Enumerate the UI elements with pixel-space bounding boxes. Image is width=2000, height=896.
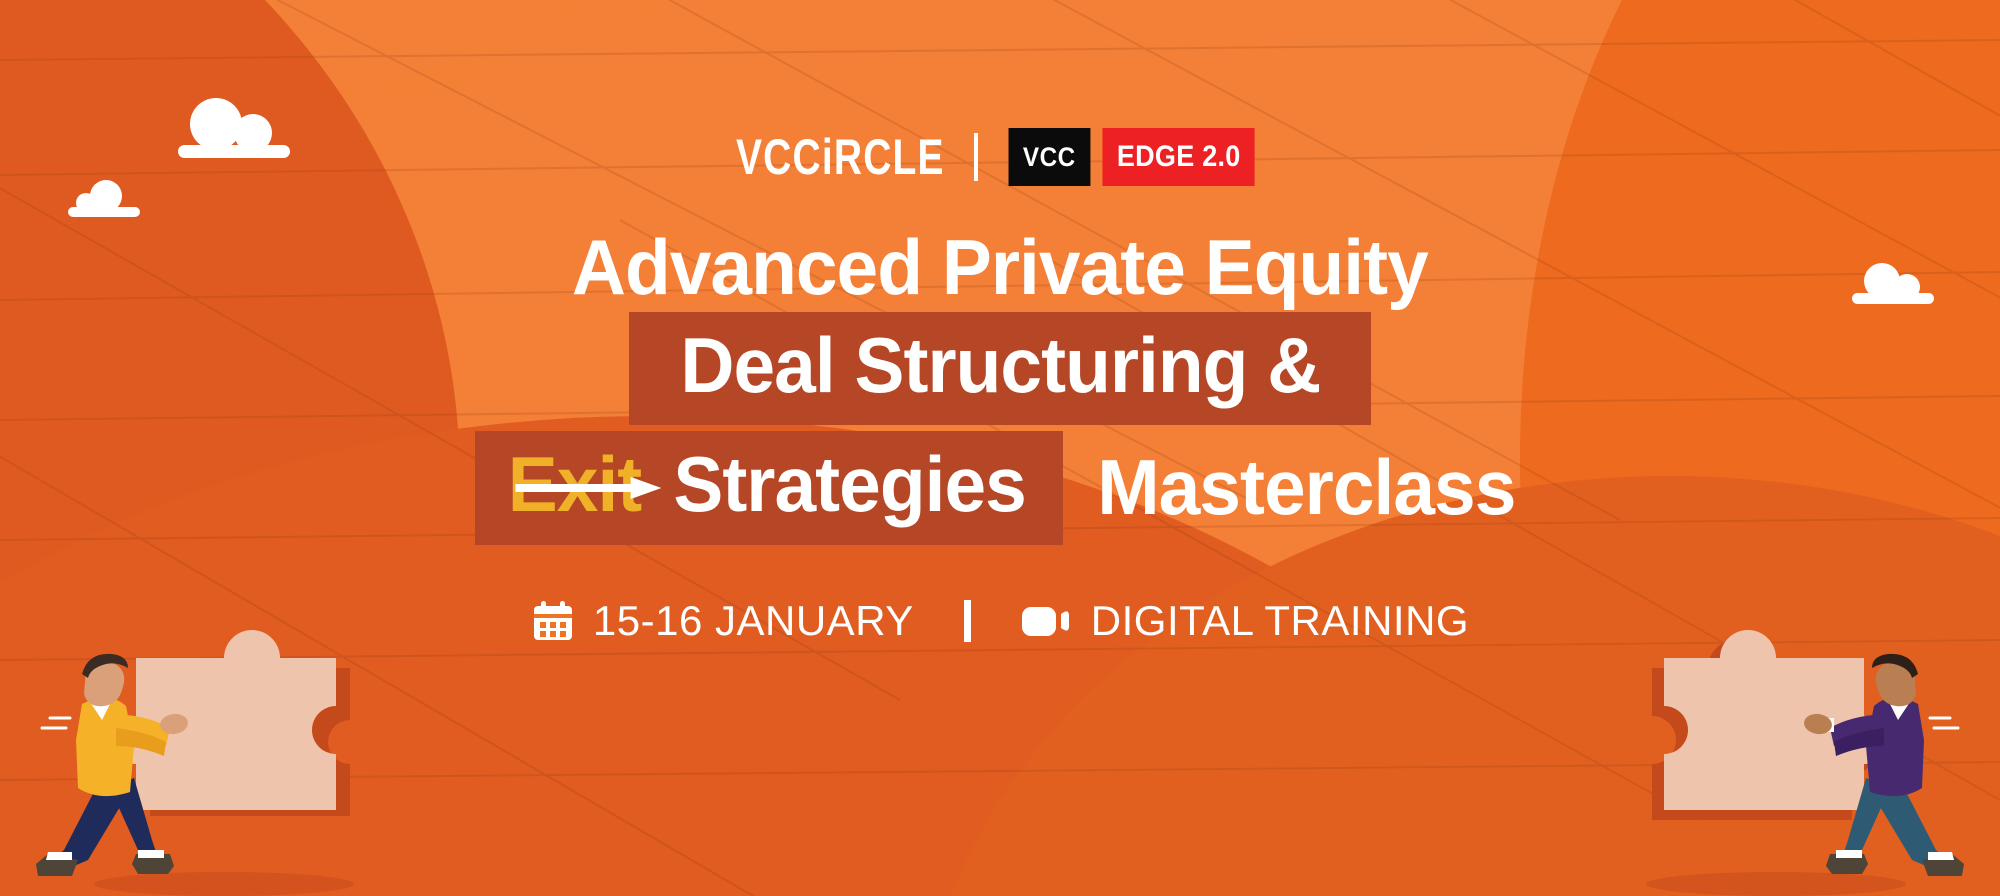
calendar-icon [531,599,575,643]
logo-divider [974,133,978,181]
brand-logo-row: VCCiRCLE VCC EDGE 2.0 [736,128,1264,186]
event-date-label: 15-16 JANUARY [593,597,914,645]
event-info-bar: 15-16 JANUARY DIGITAL TRAINING [531,597,1469,645]
exit-word-wrap: Exit [508,445,642,525]
headline-line-2-row: Deal Structuring & [629,312,1372,426]
event-format-item: DIGITAL TRAINING [1021,597,1469,645]
vccircle-wordmark: VCCiRCLE [736,132,945,182]
vcc-badge-right: EDGE 2.0 [1103,128,1256,186]
event-date-item: 15-16 JANUARY [531,597,914,645]
headline-exit-word: Exit [508,440,642,528]
info-divider [964,600,971,642]
headline-line-3-row: Exit Strategies Masterclass [475,431,1525,545]
headline-line-3-highlight: Exit Strategies [475,431,1063,545]
event-banner: VCCiRCLE VCC EDGE 2.0 Advanced Private E… [0,0,2000,896]
headline-block: Advanced Private Equity Deal Structuring… [475,228,1525,545]
vcc-edge-badge: VCC EDGE 2.0 [1004,128,1264,186]
headline-masterclass-word: Masterclass [1073,448,1516,528]
banner-content: VCCiRCLE VCC EDGE 2.0 Advanced Private E… [0,0,2000,896]
vcc-badge-left: VCC [1008,128,1089,186]
video-camera-icon [1021,601,1073,641]
headline-line-1: Advanced Private Equity [572,228,1428,308]
headline-strategies-word: Strategies [673,445,1025,525]
headline-line-2-highlight: Deal Structuring & [629,312,1372,426]
headline-line-1-row: Advanced Private Equity [554,228,1446,308]
headline-line-2: Deal Structuring & [680,326,1320,406]
event-format-label: DIGITAL TRAINING [1091,597,1469,645]
